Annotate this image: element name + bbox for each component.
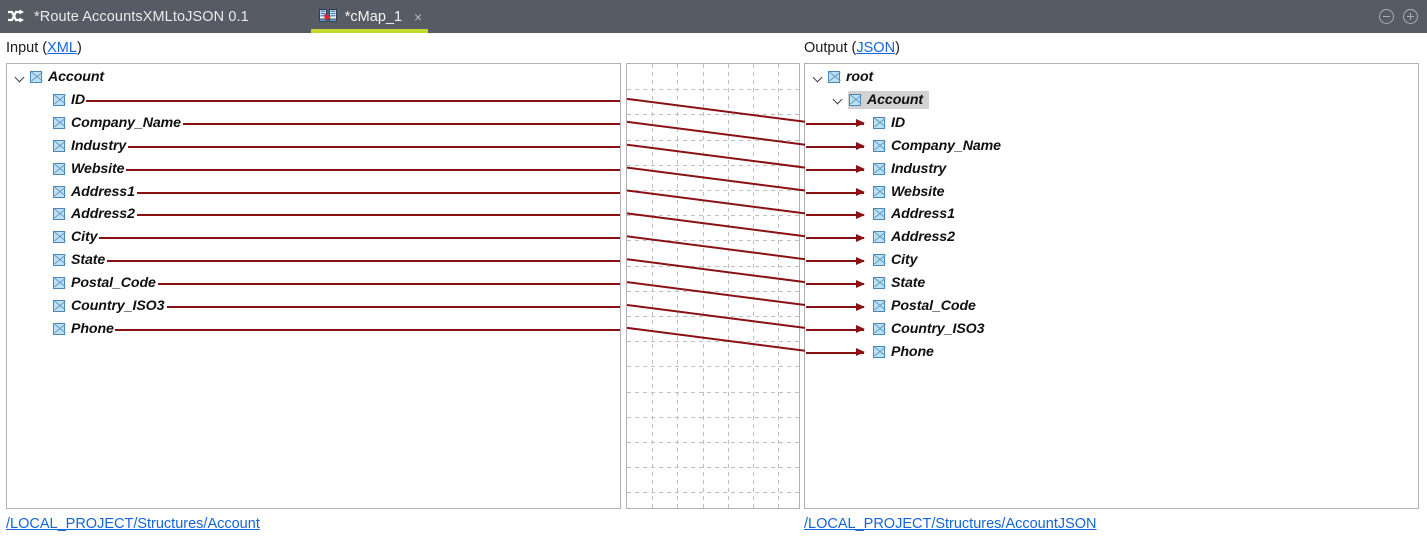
output-structure-path-link[interactable]: /LOCAL_PROJECT/Structures/AccountJSON <box>804 516 1097 532</box>
mapping-link-line <box>627 236 805 259</box>
mapping-link-line <box>627 259 805 282</box>
mapping-link-line <box>627 305 805 328</box>
input-structure-path-link[interactable]: /LOCAL_PROJECT/Structures/Account <box>6 516 260 532</box>
mapping-link-line <box>627 282 805 305</box>
mapping-link-line <box>627 328 805 351</box>
mapping-link-line <box>627 191 805 214</box>
mapping-link-line <box>627 122 805 145</box>
mapping-link-line <box>627 145 805 168</box>
mapping-link-line <box>627 168 805 191</box>
mapping-link-line <box>627 213 805 236</box>
mapping-link-line <box>627 99 805 122</box>
mapping-link-lines <box>0 0 1427 539</box>
